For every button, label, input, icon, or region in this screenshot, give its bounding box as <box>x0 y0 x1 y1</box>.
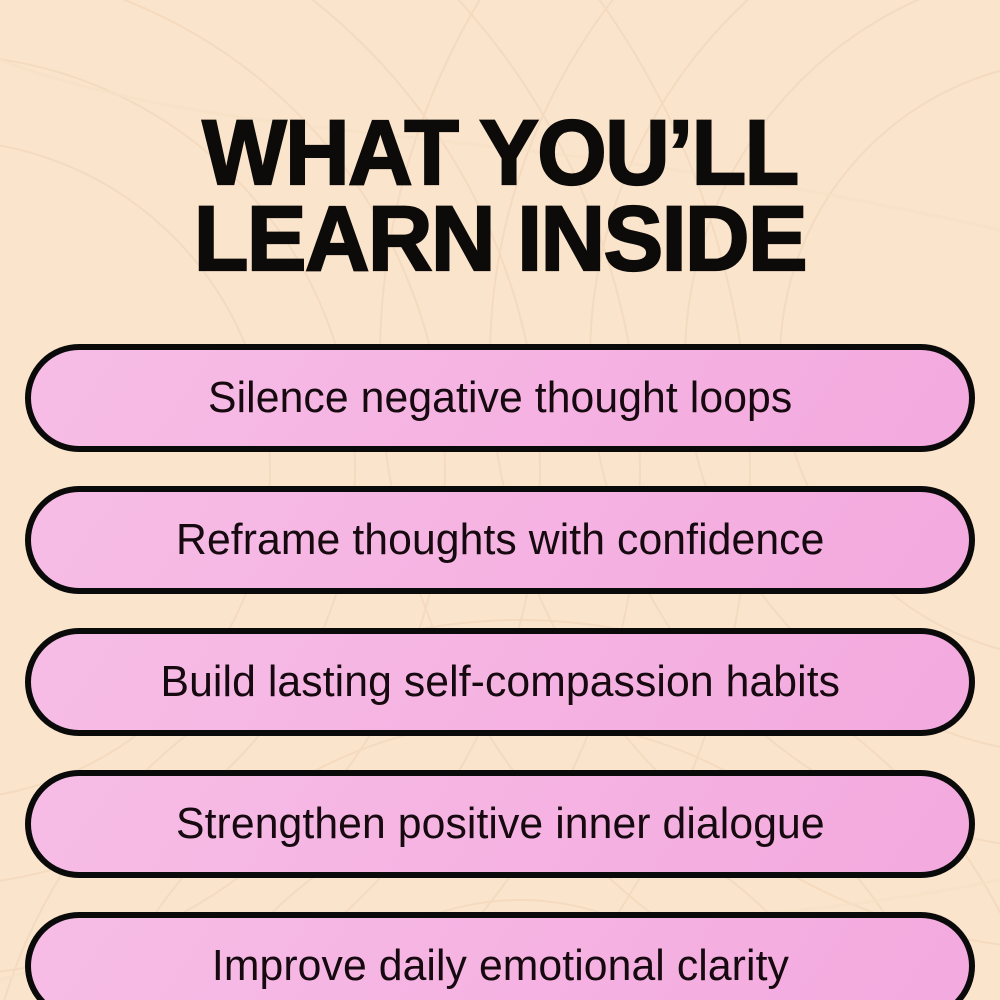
list-item[interactable]: Build lasting self-compassion habits <box>25 628 975 736</box>
list-item[interactable]: Improve daily emotional clarity <box>25 912 975 1000</box>
benefit-label: Build lasting self-compassion habits <box>160 660 840 704</box>
benefit-label: Strengthen positive inner dialogue <box>176 802 825 846</box>
poster-canvas: WHAT YOU’LL LEARN INSIDE Silence negativ… <box>0 0 1000 1000</box>
list-item[interactable]: Silence negative thought loops <box>25 344 975 452</box>
benefit-label: Improve daily emotional clarity <box>211 944 788 988</box>
list-item[interactable]: Reframe thoughts with confidence <box>25 486 975 594</box>
benefit-label: Reframe thoughts with confidence <box>176 518 824 562</box>
page-title-line-1: WHAT YOU’LL <box>15 110 985 196</box>
list-item[interactable]: Strengthen positive inner dialogue <box>25 770 975 878</box>
page-title: WHAT YOU’LL LEARN INSIDE <box>15 62 985 283</box>
benefits-list: Silence negative thought loops Reframe t… <box>25 344 975 1000</box>
page-title-line-2: LEARN INSIDE <box>15 196 985 282</box>
benefit-label: Silence negative thought loops <box>208 376 792 420</box>
